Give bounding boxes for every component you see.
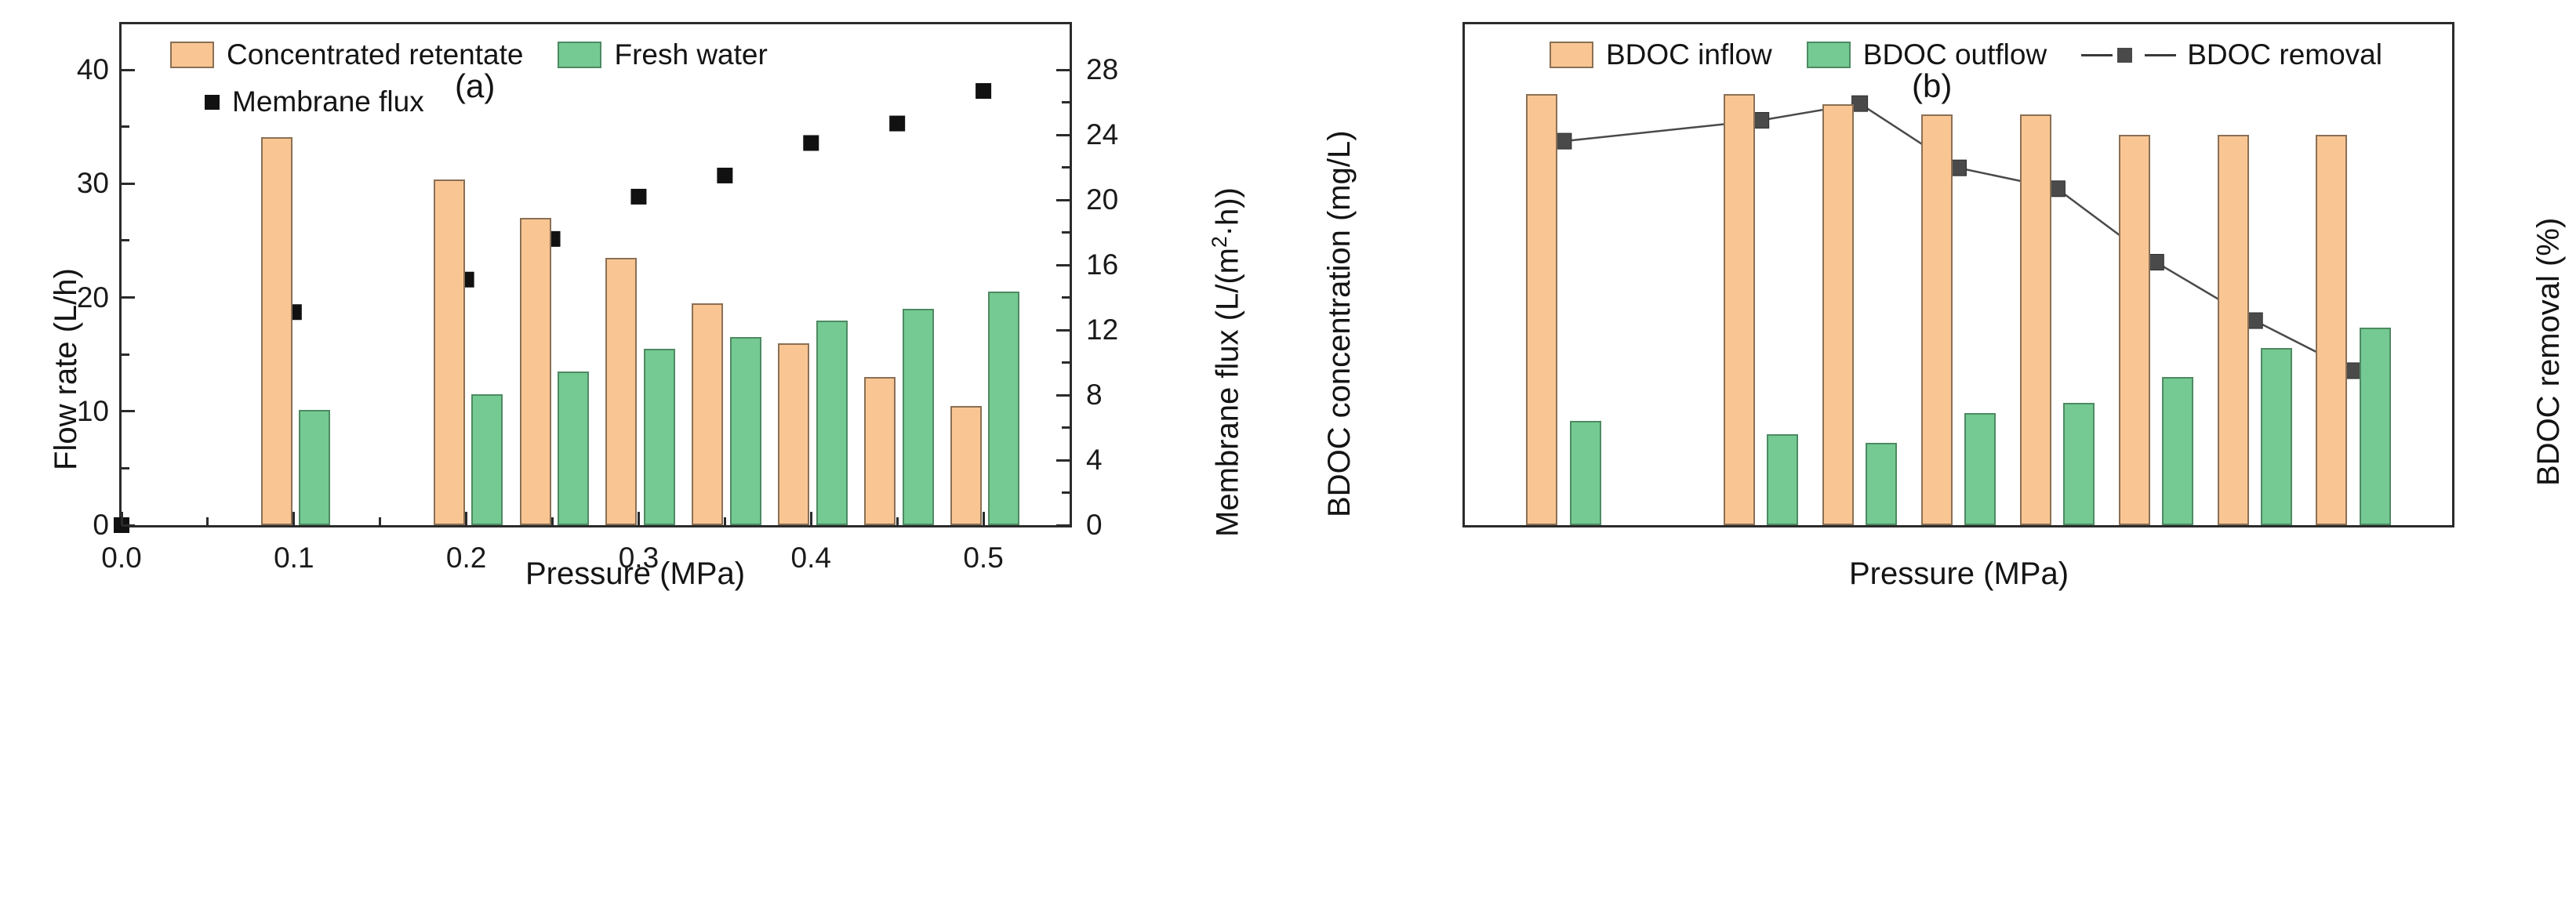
bar-concentrated-retentate [692, 303, 723, 525]
figure-root: (a) Concentrated retentate Fresh water M… [0, 0, 2576, 899]
line-segment-icon [2145, 54, 2176, 56]
legend-b: BDOC inflow BDOC outflow BDOC removal [1550, 38, 2382, 71]
bar-concentrated-retentate [261, 137, 292, 525]
x-tick-label-a: 0.2 [446, 542, 486, 575]
x-tick-label-a: 0.0 [101, 542, 141, 575]
y-tick-minor-right-a [1062, 426, 1070, 429]
bar-fresh-water [299, 410, 330, 525]
bar-bdoc-inflow [2020, 114, 2051, 525]
line-segment-icon [2081, 54, 2113, 56]
y-tick-major-right-a [1056, 264, 1070, 266]
legend-item-concentrated-retentate[interactable]: Concentrated retentate [170, 38, 523, 71]
y-tick-label-right-a: 8 [1086, 379, 1103, 411]
bar-fresh-water [988, 292, 1019, 525]
x-axis-title-b: Pressure (MPa) [1849, 556, 2069, 592]
y-tick-minor-left-a [122, 353, 129, 356]
y-tick-label-right-a: 20 [1086, 183, 1118, 216]
panel-a: (a) Concentrated retentate Fresh water M… [0, 0, 1270, 899]
y-tick-major-right-a [1056, 69, 1070, 71]
y-tick-label-left-a: 40 [60, 53, 109, 86]
orange-swatch-icon [170, 42, 214, 68]
y-tick-minor-right-a [1062, 101, 1070, 103]
y-tick-major-left-a [122, 410, 135, 412]
bar-fresh-water [471, 394, 503, 525]
legend-item-bdoc-removal[interactable]: BDOC removal [2081, 38, 2382, 71]
marker-bdoc-removal [2049, 181, 2065, 197]
bar-bdoc-outflow [1964, 413, 1996, 525]
y-tick-label-right-a: 12 [1086, 314, 1118, 346]
x-tick-label-a: 0.5 [963, 542, 1003, 575]
orange-swatch-icon [1550, 42, 1593, 68]
marker-bdoc-removal [1556, 133, 1571, 149]
bar-concentrated-retentate [950, 406, 982, 525]
y-tick-major-left-a [122, 69, 135, 71]
bar-fresh-water [730, 337, 761, 525]
bar-bdoc-inflow [2316, 135, 2347, 525]
bar-bdoc-inflow [1921, 114, 1953, 525]
y-tick-major-right-a [1056, 134, 1070, 136]
bar-concentrated-retentate [520, 218, 551, 525]
y-axis-left-title-b: BDOC concentration (mg/L) [1322, 130, 1357, 517]
y-tick-label-right-a: 16 [1086, 248, 1118, 281]
x-tick-minor-a [206, 517, 209, 525]
bar-bdoc-outflow [1767, 434, 1798, 525]
bar-bdoc-inflow [2119, 135, 2150, 525]
panel-a-tag: (a) [455, 67, 495, 105]
y-tick-minor-right-a [1062, 361, 1070, 364]
legend-item-bdoc-inflow[interactable]: BDOC inflow [1550, 38, 1772, 71]
y-tick-major-right-a [1056, 524, 1070, 527]
marker-bdoc-removal [1951, 160, 1967, 176]
marker-bdoc-removal [1852, 96, 1868, 111]
marker-bdoc-removal [2247, 313, 2262, 328]
bar-bdoc-inflow [1724, 94, 1755, 525]
bar-bdoc-outflow [2063, 403, 2095, 525]
black-square-marker-icon [205, 95, 220, 110]
x-tick-major-a [810, 512, 812, 525]
y-tick-minor-left-a [122, 467, 129, 469]
series-overlay-b [1465, 24, 2452, 525]
bar-concentrated-retentate [778, 343, 809, 525]
x-axis-title-a: Pressure (MPa) [525, 556, 745, 592]
marker-membrane-flux [976, 83, 991, 99]
x-tick-minor-a [551, 517, 554, 525]
y-tick-label-right-a: 0 [1086, 509, 1103, 542]
x-tick-major-a [292, 512, 295, 525]
marker-membrane-flux [630, 189, 646, 205]
bar-bdoc-outflow [1570, 421, 1601, 525]
marker-bdoc-removal [2148, 255, 2164, 270]
y-tick-label-right-a: 28 [1086, 53, 1118, 86]
x-tick-major-a [465, 512, 467, 525]
x-tick-minor-a [379, 517, 381, 525]
bar-bdoc-inflow [2218, 135, 2249, 525]
y-tick-minor-right-a [1062, 231, 1070, 234]
legend-item-bdoc-outflow[interactable]: BDOC outflow [1807, 38, 2047, 71]
y-tick-major-left-a [122, 524, 135, 527]
y-tick-label-left-a: 0 [60, 509, 109, 542]
x-tick-label-a: 0.1 [274, 542, 314, 575]
legend-label: Fresh water [614, 38, 767, 71]
panel-b: (b) BDOC inflow BDOC outflow BDOC remova… [1270, 0, 2576, 899]
panel-b-tag: (b) [1912, 67, 1952, 105]
x-tick-label-a: 0.4 [791, 542, 831, 575]
y-tick-major-right-a [1056, 329, 1070, 332]
marker-membrane-flux [803, 135, 819, 150]
y-axis-left-title-a: Flow rate (L/h) [49, 268, 84, 470]
legend-item-membrane-flux[interactable]: Membrane flux [200, 85, 424, 118]
bar-bdoc-outflow [1866, 443, 1897, 525]
y-tick-major-left-a [122, 296, 135, 299]
bar-bdoc-outflow [2261, 348, 2292, 525]
y-tick-minor-right-a [1062, 166, 1070, 169]
bar-bdoc-outflow [2360, 328, 2391, 525]
x-tick-major-a [121, 512, 123, 525]
x-tick-minor-a [896, 517, 899, 525]
bar-concentrated-retentate [864, 377, 896, 525]
x-tick-major-a [638, 512, 640, 525]
x-tick-minor-a [724, 517, 726, 525]
bar-concentrated-retentate [434, 179, 465, 525]
bar-fresh-water [558, 372, 589, 525]
marker-membrane-flux [717, 168, 732, 183]
bar-bdoc-inflow [1526, 94, 1557, 525]
grey-square-marker-icon [2117, 48, 2132, 63]
y-tick-major-right-a [1056, 394, 1070, 397]
plot-area-a: (a) Concentrated retentate Fresh water M… [119, 22, 1072, 527]
y-tick-label-right-a: 24 [1086, 118, 1118, 151]
bar-fresh-water [816, 321, 848, 525]
x-tick-major-a [983, 512, 985, 525]
plot-area-b: (b) BDOC inflow BDOC outflow BDOC remova… [1462, 22, 2454, 527]
y-axis-right-title-a-prefix: Membrane flux (L/(m [1210, 248, 1244, 537]
legend-label: BDOC removal [2187, 38, 2382, 71]
legend-a-row1: Concentrated retentate Fresh water [170, 38, 802, 71]
legend-label: Membrane flux [232, 85, 424, 118]
y-tick-label-right-a: 4 [1086, 444, 1103, 477]
y-axis-right-title-a-suffix: ·h)) [1210, 187, 1244, 236]
y-tick-minor-right-a [1062, 491, 1070, 494]
y-tick-major-right-a [1056, 459, 1070, 462]
legend-a-row2: Membrane flux [200, 85, 459, 118]
y-axis-right-title-b: BDOC removal (%) [2531, 218, 2567, 486]
y-tick-minor-right-a [1062, 296, 1070, 299]
marker-bdoc-removal [1753, 112, 1769, 128]
y-tick-minor-left-a [122, 239, 129, 241]
y-axis-right-title-a-sup: 2 [1208, 236, 1231, 248]
y-axis-right-title-a: Membrane flux (L/(m2·h)) [1208, 187, 1245, 537]
y-tick-major-left-a [122, 183, 135, 185]
bar-concentrated-retentate [605, 258, 637, 525]
y-tick-major-right-a [1056, 199, 1070, 201]
legend-item-fresh-water[interactable]: Fresh water [558, 38, 767, 71]
legend-label: BDOC inflow [1606, 38, 1772, 71]
legend-label: Concentrated retentate [227, 38, 523, 71]
y-tick-label-left-a: 30 [60, 167, 109, 200]
bar-bdoc-inflow [1822, 104, 1854, 525]
green-swatch-icon [1807, 42, 1851, 68]
bar-bdoc-outflow [2162, 377, 2193, 525]
green-swatch-icon [558, 42, 601, 68]
marker-membrane-flux [889, 116, 905, 132]
bar-fresh-water [903, 309, 934, 525]
legend-label: BDOC outflow [1863, 38, 2047, 71]
y-tick-minor-left-a [122, 125, 129, 128]
bar-fresh-water [644, 349, 675, 525]
